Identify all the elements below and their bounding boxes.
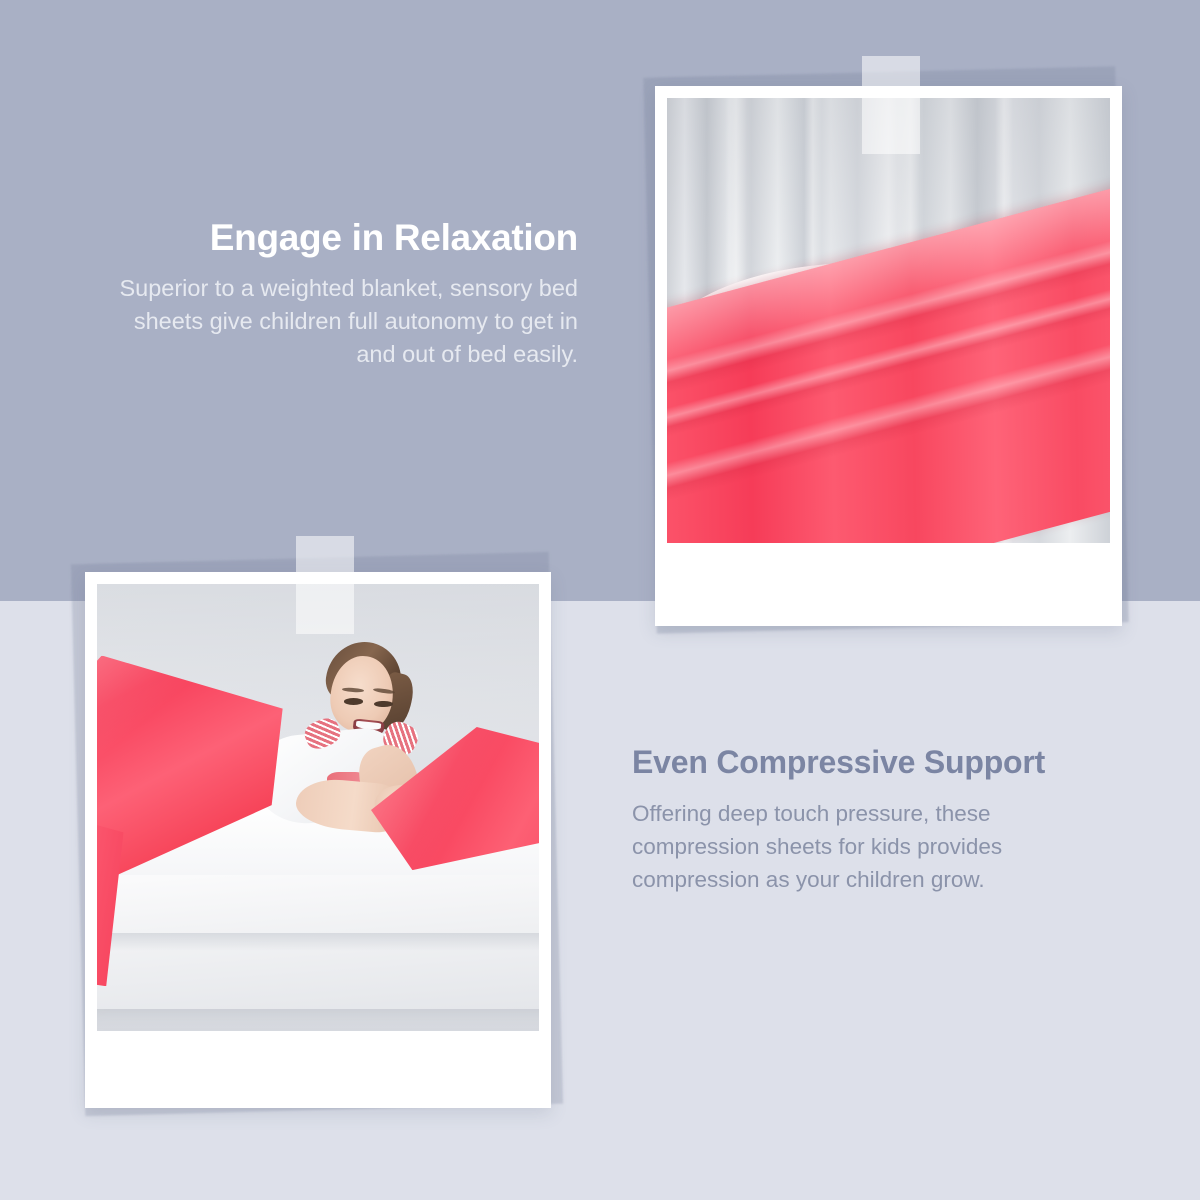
feature-heading-relaxation: Engage in Relaxation [90, 218, 578, 259]
photo-card-sleeping-child [655, 86, 1122, 626]
tape-strip-child-under-tent [296, 536, 354, 634]
feature-heading-compression: Even Compressive Support [632, 744, 1102, 782]
feature-text-compression: Even Compressive Support Offering deep t… [632, 744, 1102, 896]
tape-strip-sleeping-child [862, 56, 920, 154]
feature-text-relaxation: Engage in Relaxation Superior to a weigh… [90, 218, 578, 372]
photo-card-child-under-tent [85, 572, 551, 1108]
photo-sleeping-child [667, 98, 1110, 543]
mattress-edge-shadow [97, 933, 539, 951]
feature-body-relaxation: Superior to a weighted blanket, sensory … [90, 272, 578, 372]
feature-body-compression: Offering deep touch pressure, these comp… [632, 797, 1102, 896]
photo-child-under-tent [97, 584, 539, 1031]
promo-graphic: Engage in Relaxation Superior to a weigh… [0, 0, 1200, 1200]
